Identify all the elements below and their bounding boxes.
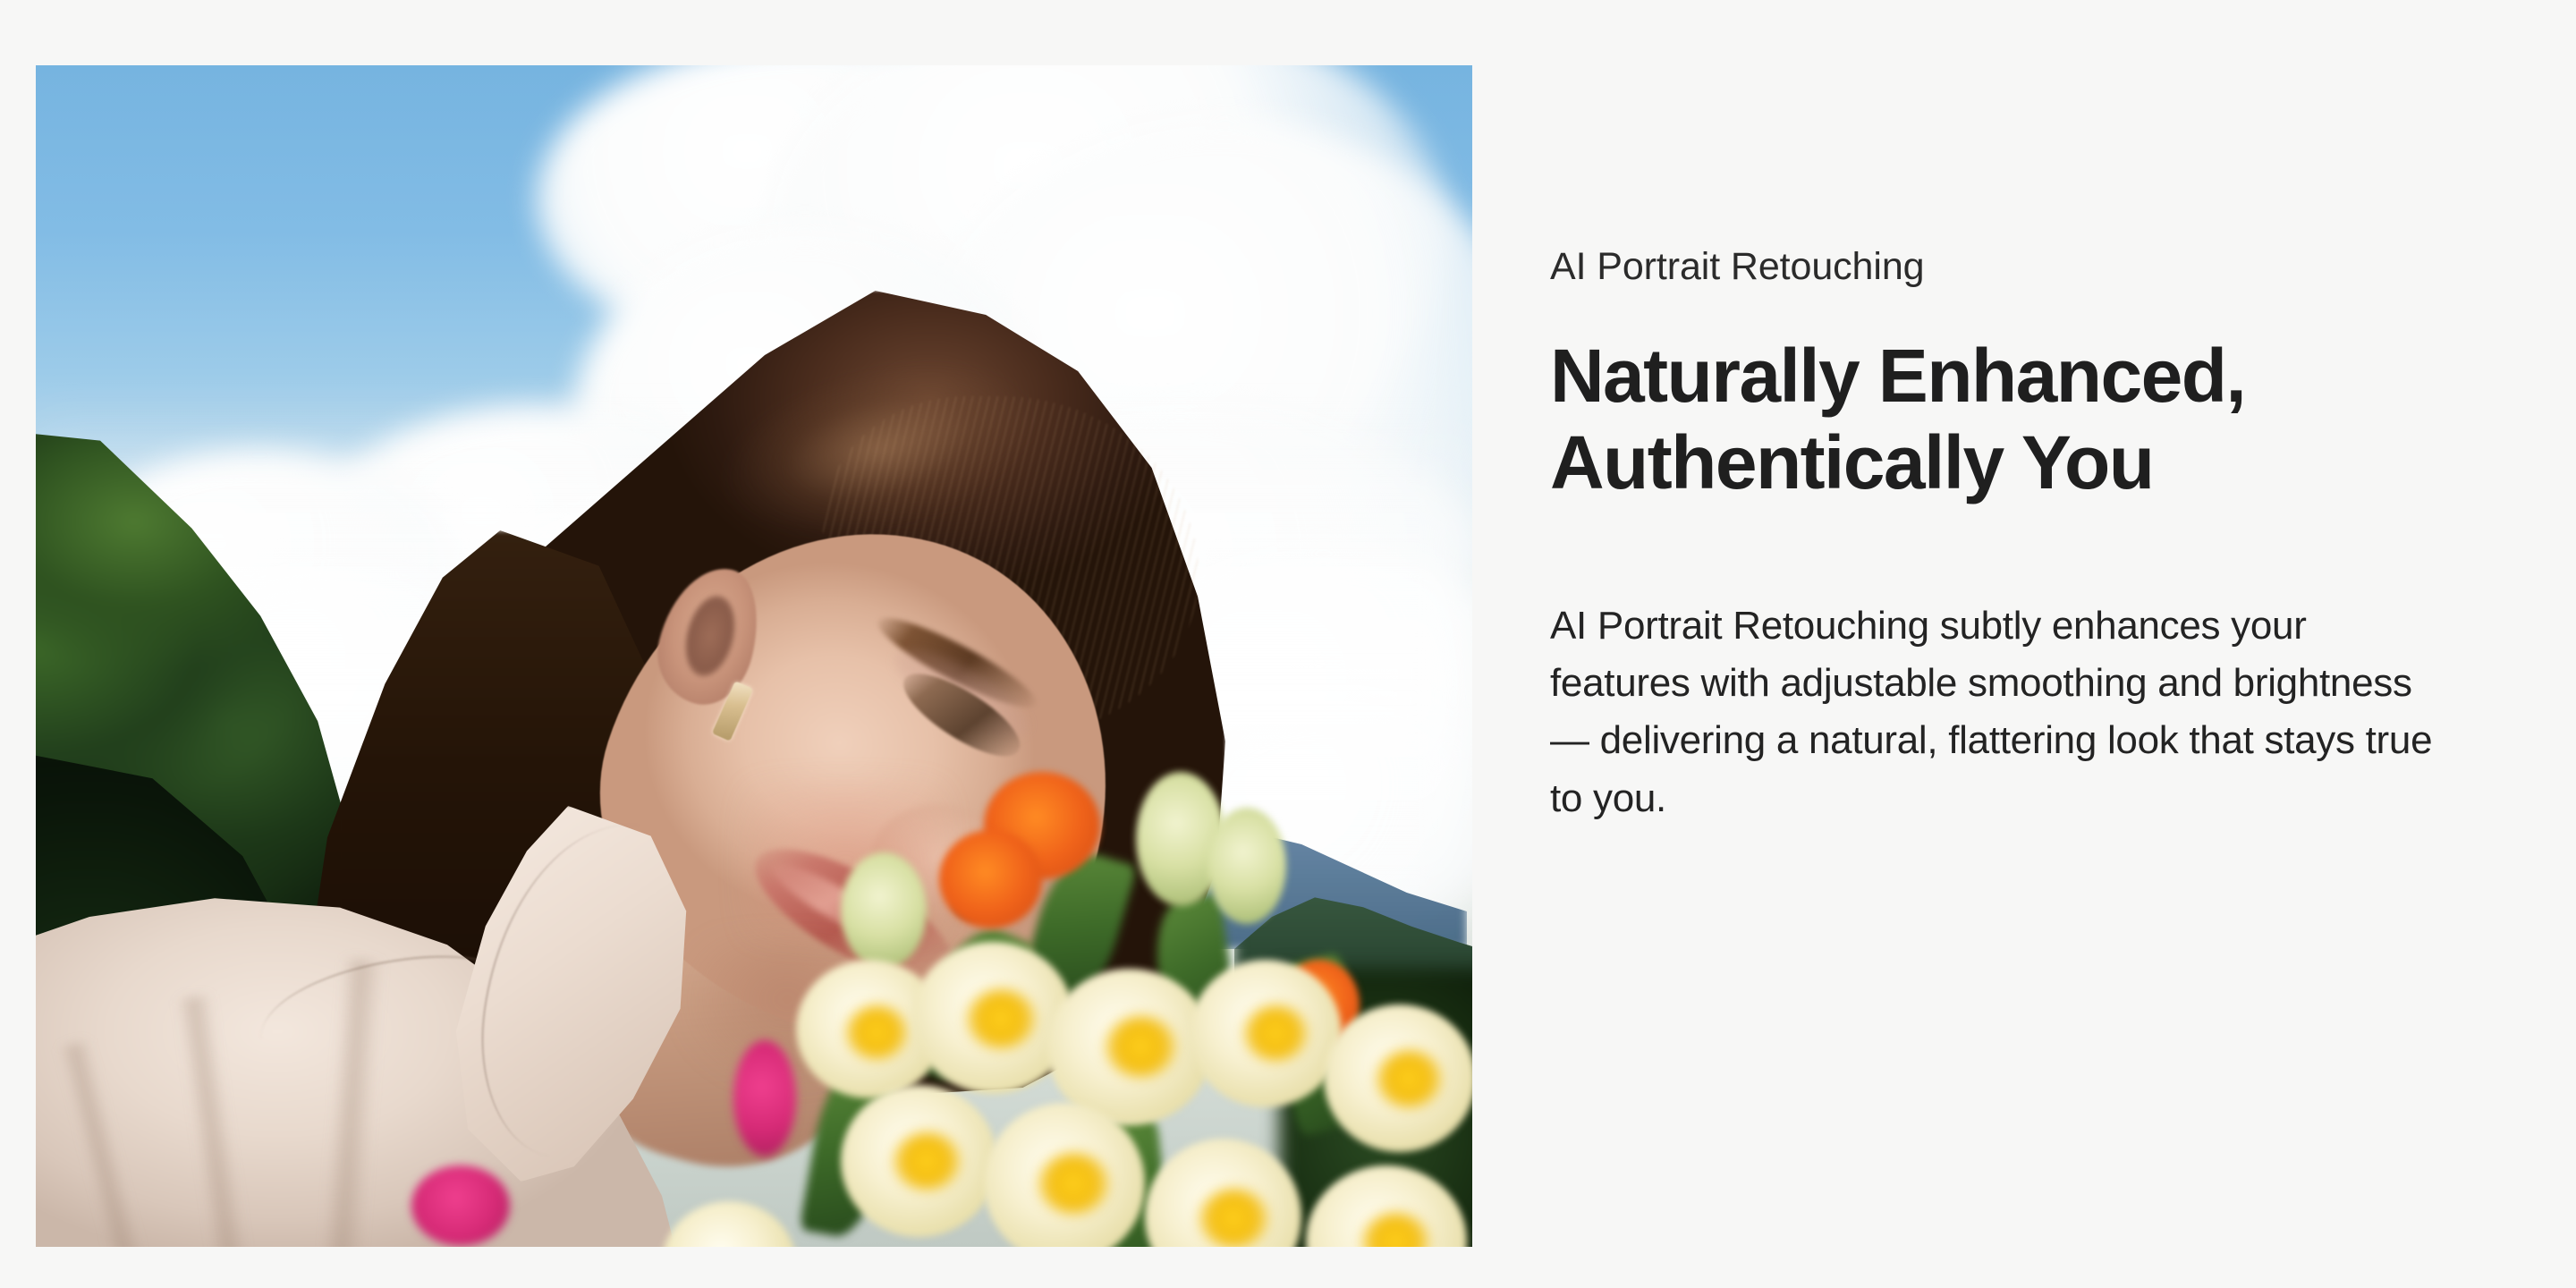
- feature-body-copy: AI Portrait Retouching subtly enhances y…: [1550, 597, 2445, 827]
- flower-bud: [841, 852, 927, 969]
- flower-center: [1376, 1049, 1442, 1108]
- flower-center: [1199, 1188, 1268, 1247]
- flower-bud: [1207, 808, 1286, 924]
- portrait-photo: [36, 65, 1472, 1247]
- cream-rose: [662, 1201, 796, 1247]
- feature-section: AI Portrait Retouching Naturally Enhance…: [0, 0, 2576, 1288]
- flower-center: [893, 1131, 961, 1191]
- flower-center: [845, 1004, 908, 1060]
- bouquet: [36, 65, 1472, 1247]
- flower-center: [966, 988, 1036, 1049]
- flower-center: [1105, 1015, 1176, 1078]
- photo-canvas: [36, 65, 1472, 1247]
- flower-center: [1243, 1004, 1308, 1062]
- feature-eyebrow: AI Portrait Retouching: [1550, 243, 1924, 290]
- orange-flower: [939, 830, 1042, 928]
- pink-flower: [733, 1040, 796, 1157]
- feature-text-column: AI Portrait Retouching Naturally Enhance…: [1550, 0, 2480, 1288]
- pink-flower: [411, 1165, 510, 1246]
- feature-headline: Naturally Enhanced, Authentically You: [1550, 333, 2453, 507]
- flower-center: [1038, 1152, 1109, 1215]
